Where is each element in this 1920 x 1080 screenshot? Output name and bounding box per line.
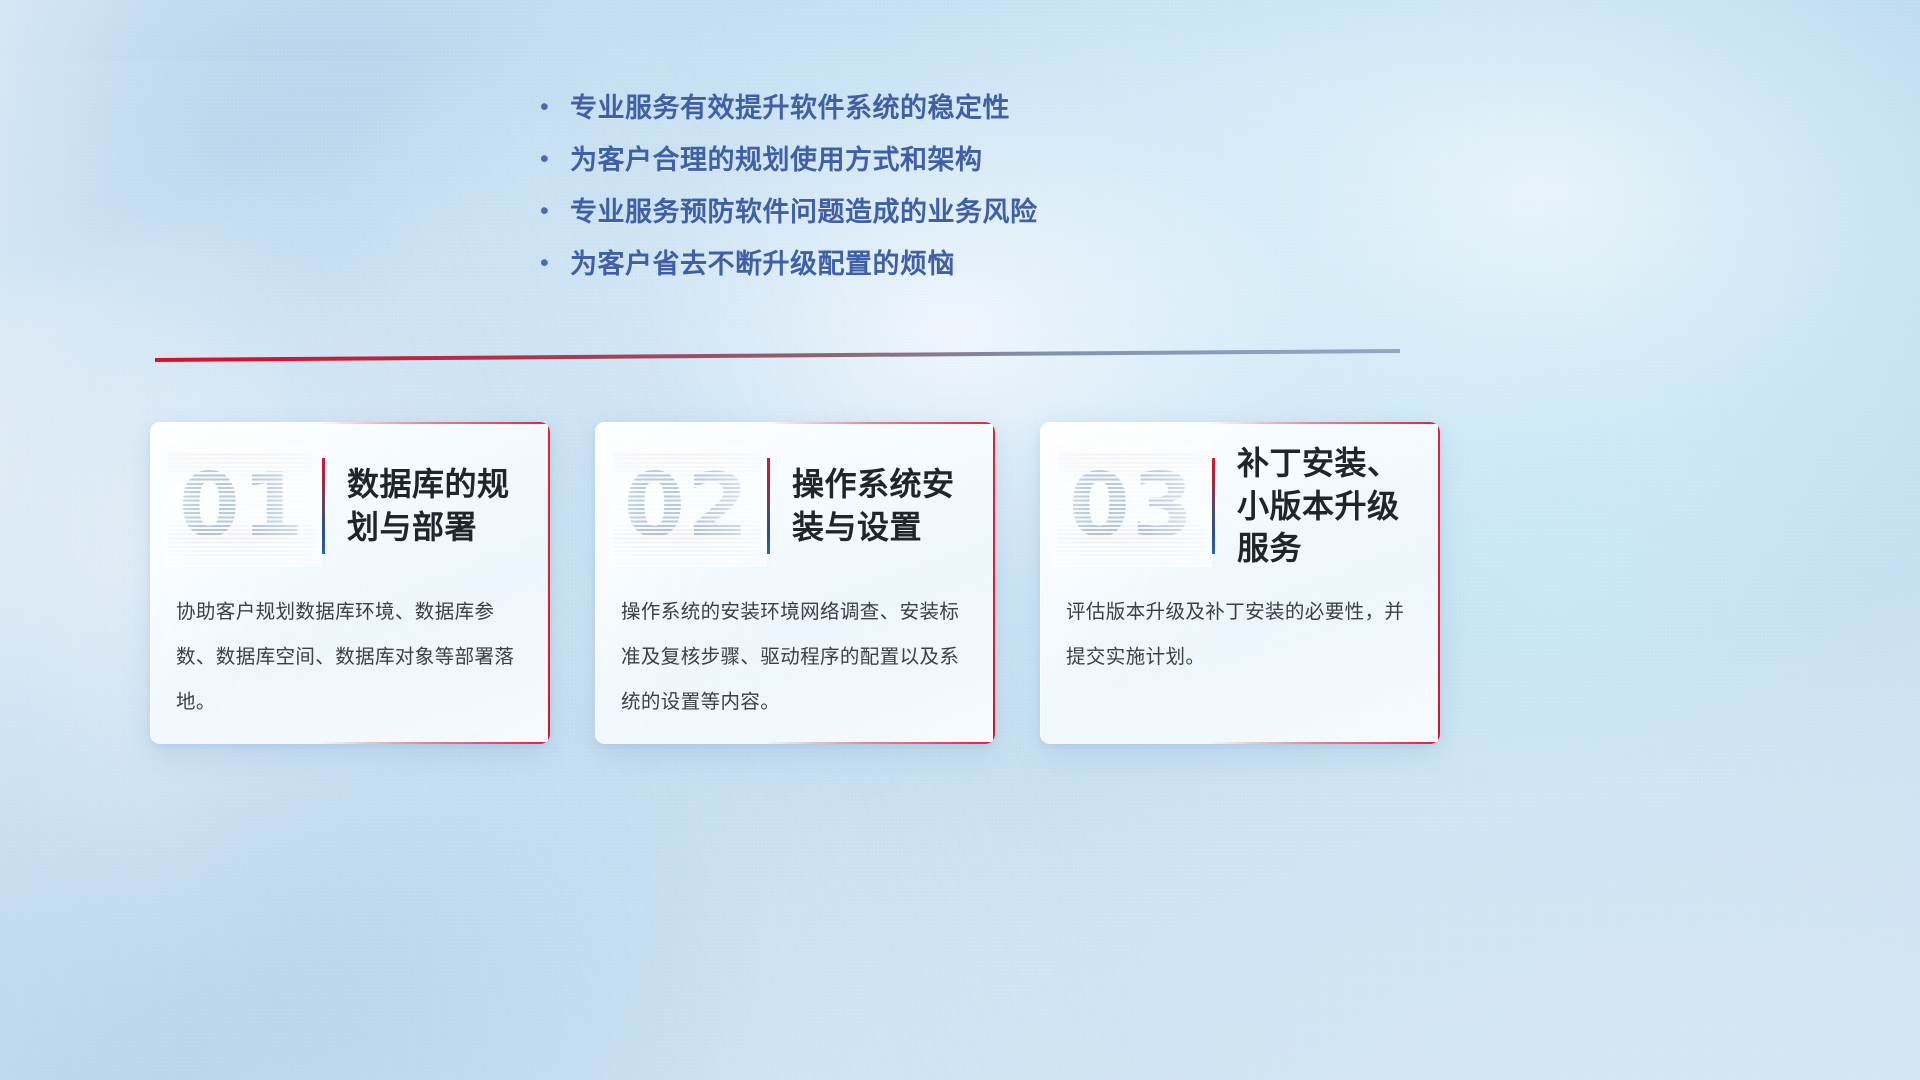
bullet-item-label: 为客户省去不断升级配置的烦恼 — [570, 238, 955, 290]
card-red-accent-bottom — [1208, 742, 1440, 744]
card-title-rule — [1212, 458, 1215, 554]
card-title: 操作系统安装与设置 — [792, 463, 995, 549]
card-number-badge: 02 — [613, 451, 761, 561]
card-number-label: 03 — [1069, 462, 1195, 550]
bullet-item: • 专业服务有效提升软件系统的稳定性 — [540, 82, 1440, 134]
bullet-item-label: 专业服务有效提升软件系统的稳定性 — [570, 82, 1010, 134]
section-divider — [155, 349, 1400, 362]
card-description: 操作系统的安装环境网络调查、安装标准及复核步骤、驱动程序的配置以及系统的设置等内… — [621, 590, 973, 726]
card-description: 评估版本升级及补丁安装的必要性，并提交实施计划。 — [1066, 590, 1418, 680]
bullet-item: • 专业服务预防软件问题造成的业务风险 — [540, 186, 1440, 238]
card-red-accent-top — [1208, 422, 1440, 424]
card-number-label: 01 — [179, 462, 305, 550]
card-number-label: 02 — [624, 462, 750, 550]
benefits-bullet-list: • 专业服务有效提升软件系统的稳定性 • 为客户合理的规划使用方式和架构 • 专… — [540, 82, 1440, 290]
card-header: 01 数据库的规划与部署 — [150, 444, 550, 568]
bullet-dot-icon: • — [540, 147, 570, 172]
service-card[interactable]: 02 操作系统安装与设置 操作系统的安装环境网络调查、安装标准及复核步骤、驱动程… — [595, 422, 995, 744]
card-title: 补丁安装、小版本升级服务 — [1237, 442, 1440, 571]
card-red-accent-top — [318, 422, 550, 424]
bullet-dot-icon: • — [540, 199, 570, 224]
divider-shape-icon — [155, 349, 1400, 362]
card-header: 02 操作系统安装与设置 — [595, 444, 995, 568]
card-number-badge: 01 — [168, 451, 316, 561]
card-red-accent-bottom — [318, 742, 550, 744]
service-card[interactable]: 01 数据库的规划与部署 协助客户规划数据库环境、数据库参数、数据库空间、数据库… — [150, 422, 550, 744]
card-red-accent-top — [763, 422, 995, 424]
bullet-item: • 为客户合理的规划使用方式和架构 — [540, 134, 1440, 186]
card-number-badge: 03 — [1058, 451, 1206, 561]
bullet-dot-icon: • — [540, 251, 570, 276]
card-title-rule — [767, 458, 770, 554]
card-header: 03 补丁安装、小版本升级服务 — [1040, 444, 1440, 568]
card-title-rule — [322, 458, 325, 554]
card-red-accent-bottom — [763, 742, 995, 744]
bullet-item-label: 专业服务预防软件问题造成的业务风险 — [570, 186, 1038, 238]
bullet-item-label: 为客户合理的规划使用方式和架构 — [570, 134, 983, 186]
service-cards-row: 01 数据库的规划与部署 协助客户规划数据库环境、数据库参数、数据库空间、数据库… — [150, 422, 1770, 744]
bullet-item: • 为客户省去不断升级配置的烦恼 — [540, 238, 1440, 290]
service-card[interactable]: 03 补丁安装、小版本升级服务 评估版本升级及补丁安装的必要性，并提交实施计划。 — [1040, 422, 1440, 744]
card-title: 数据库的规划与部署 — [347, 463, 550, 549]
bullet-dot-icon: • — [540, 95, 570, 120]
card-description: 协助客户规划数据库环境、数据库参数、数据库空间、数据库对象等部署落地。 — [176, 590, 528, 726]
